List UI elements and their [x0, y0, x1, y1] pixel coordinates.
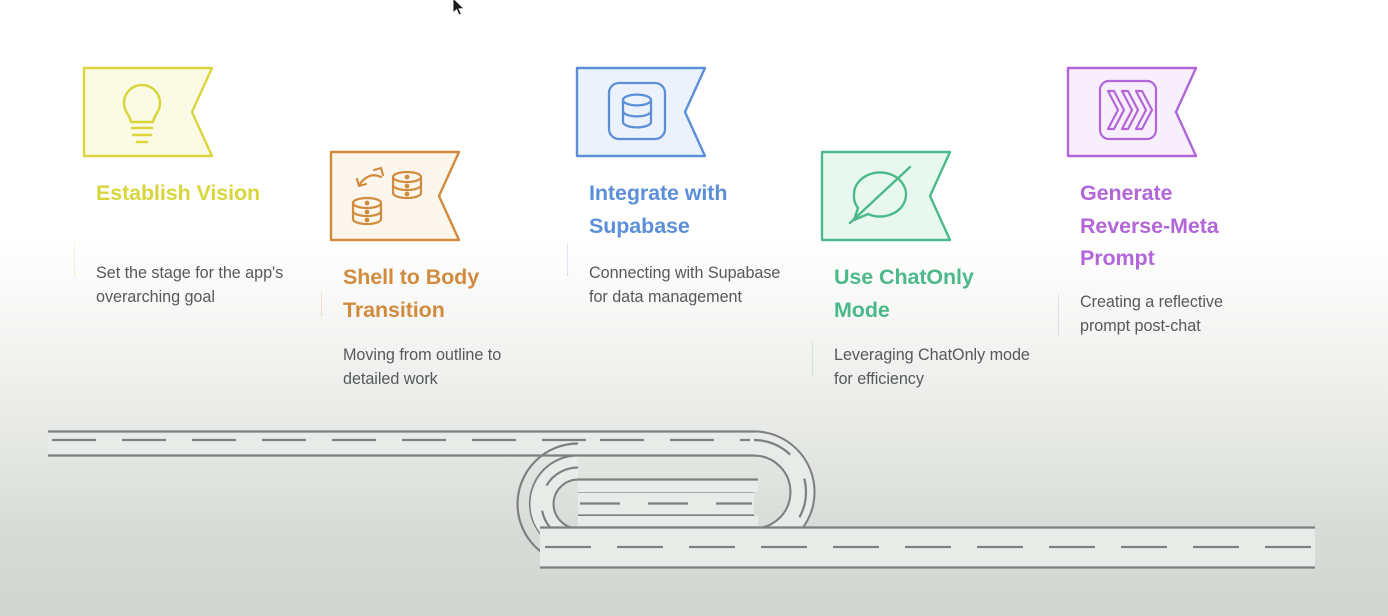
milestone-title: Establish Vision [96, 177, 282, 210]
milestone-description: Leveraging ChatOnly mode for efficiency [834, 344, 1030, 392]
road-group [48, 431, 1315, 568]
milestone-flag [565, 65, 707, 157]
milestone-description: Creating a reflective prompt post-chat [1080, 291, 1276, 339]
milestone-title: Use ChatOnly Mode [834, 261, 1020, 326]
road-row-3 [540, 527, 1315, 568]
milestone-title: Shell to Body Transition [343, 261, 529, 326]
milestone-flag [319, 149, 461, 241]
milestone-title: Integrate with Supabase [589, 177, 775, 242]
milestone-title: Generate Reverse-Meta Prompt [1080, 177, 1266, 275]
milestone-flag [1056, 65, 1198, 157]
milestone-description: Moving from outline to detailed work [343, 344, 539, 392]
milestone-description: Connecting with Supabase for data manage… [589, 262, 785, 310]
milestone-description: Set the stage for the app's overarching … [96, 262, 292, 310]
roadmap-canvas: Establish Vision Set the stage for the a… [0, 0, 1388, 616]
road-row-2 [578, 480, 758, 529]
milestone-flag [810, 149, 952, 241]
milestone-flag [72, 65, 214, 157]
arrow-cursor [452, 0, 466, 17]
